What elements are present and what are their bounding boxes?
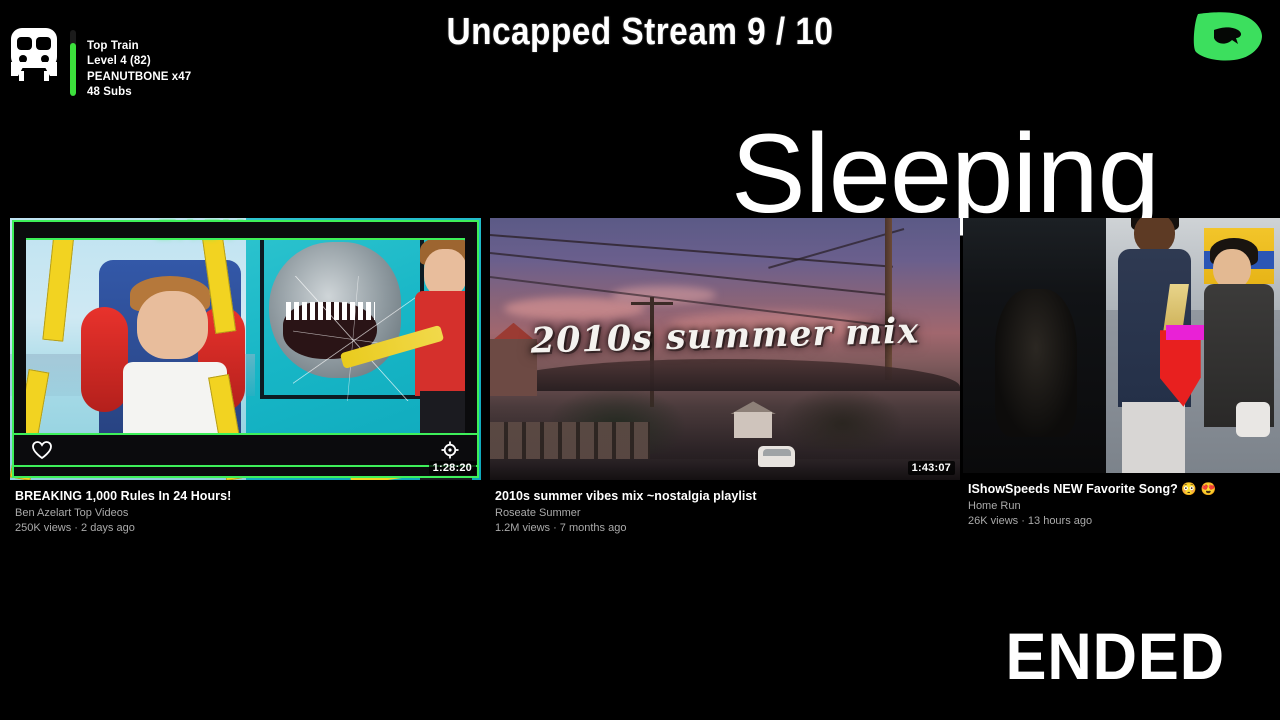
train-icon: [8, 26, 60, 84]
video-channel[interactable]: Roseate Summer: [495, 506, 960, 521]
status-word: Sleeping: [731, 118, 1159, 230]
video-duration: 1:28:20: [429, 461, 476, 475]
video-meta: 2010s summer vibes mix ~nostalgia playli…: [490, 480, 960, 536]
video-title[interactable]: IShowSpeeds NEW Favorite Song? 😳 😍: [968, 482, 1280, 497]
video-card[interactable]: 2010s summer mix 1:43:07 2010s summer vi…: [490, 218, 960, 536]
video-thumbnail[interactable]: EAZY: [10, 218, 481, 480]
thumb2-trees: [781, 386, 903, 449]
thumb1-person2-face: [424, 249, 466, 296]
thumb3-person1-pants: [1122, 402, 1185, 473]
video-title[interactable]: BREAKING 1,000 Rules In 24 Hours!: [15, 489, 481, 504]
ended-label: ENDED: [1005, 618, 1225, 694]
thumb1-eazy-text: EAZY: [156, 218, 244, 246]
video-grid: EAZY: [0, 218, 1280, 533]
video-duration: 1:43:07: [908, 461, 955, 475]
xp-progress-bar: [70, 30, 76, 96]
thumb2-car-window: [763, 449, 791, 457]
video-channel[interactable]: Home Run: [968, 499, 1280, 514]
video-stats: 1.2M views · 7 months ago: [495, 521, 960, 536]
video-stats: 250K views · 2 days ago: [15, 521, 481, 536]
thumb2-house: [734, 412, 772, 438]
profile-subs: 48 Subs: [87, 85, 191, 100]
thumb3-person2-head: [1213, 249, 1251, 290]
stream-title: Uncapped Stream 9 / 10: [77, 11, 1203, 54]
video-thumbnail[interactable]: [963, 218, 1280, 473]
thumb2-fence: [490, 422, 650, 464]
video-channel[interactable]: Ben Azelart Top Videos: [15, 506, 481, 521]
video-meta: IShowSpeeds NEW Favorite Song? 😳 😍 Home …: [963, 473, 1280, 529]
thumb1-person-face: [137, 291, 208, 359]
video-thumbnail[interactable]: 2010s summer mix 1:43:07: [490, 218, 960, 480]
thumb1-harness-left: [81, 307, 128, 412]
dlive-logo-icon: [1192, 8, 1264, 64]
thumb2-road: [490, 459, 960, 480]
thumb2-utility-pole: [885, 218, 893, 380]
video-card[interactable]: IShowSpeeds NEW Favorite Song? 😳 😍 Home …: [963, 218, 1280, 529]
thumb3-magenta-tag: [1166, 325, 1204, 340]
video-meta: BREAKING 1,000 Rules In 24 Hours! Ben Az…: [10, 480, 481, 536]
video-title[interactable]: 2010s summer vibes mix ~nostalgia playli…: [495, 489, 960, 504]
video-stats: 26K views · 13 hours ago: [968, 514, 1280, 529]
thumb3-glove: [1236, 402, 1271, 438]
video-card[interactable]: EAZY: [10, 218, 481, 536]
profile-level: Level 4 (82): [87, 54, 191, 69]
xp-progress-fill: [70, 43, 76, 96]
profile-currency: PEANUTBONE x47: [87, 70, 191, 85]
thumb3-silhouette: [995, 289, 1077, 437]
